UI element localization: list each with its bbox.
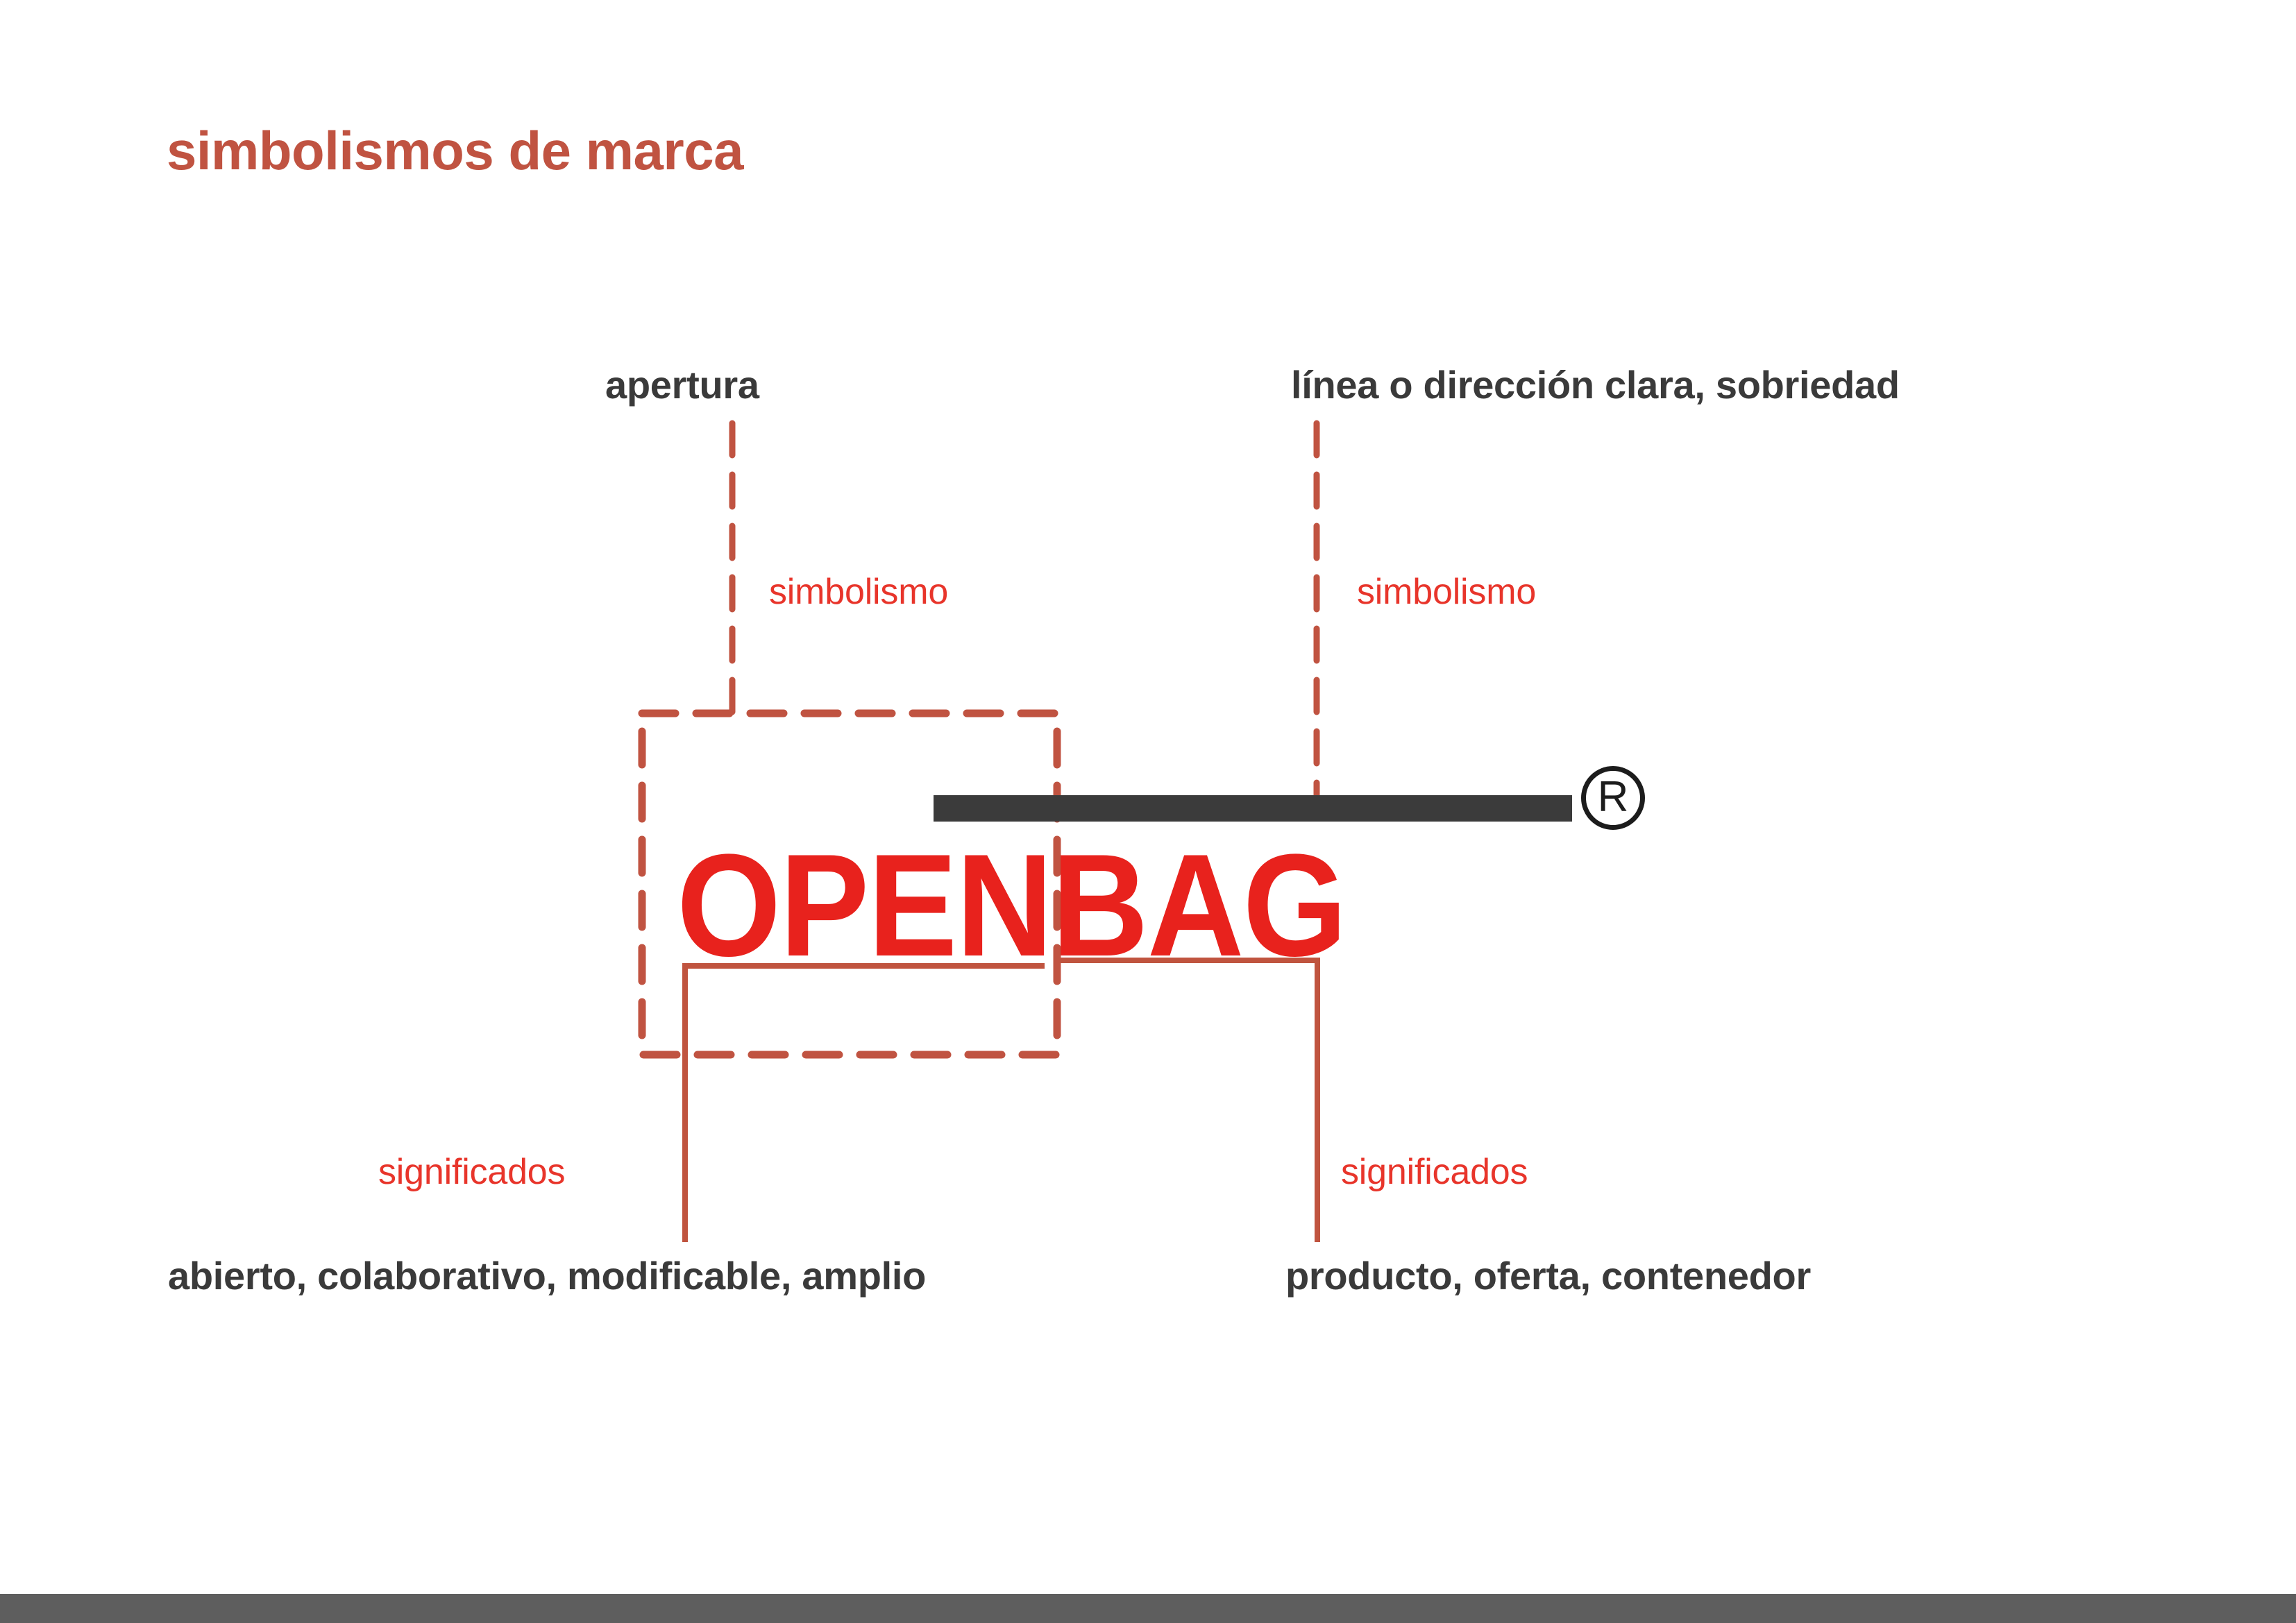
annotation-meanings-left: abierto, colaborativo, modificable, ampl… <box>168 1257 926 1295</box>
annotation-significados-right: significados <box>1341 1154 1528 1190</box>
annotation-apertura: apertura <box>605 366 759 405</box>
annotation-simbolismo-right: simbolismo <box>1357 574 1536 610</box>
logo-rule-bar <box>934 795 1572 822</box>
bracket-right-meanings <box>1061 960 1317 1242</box>
logo-wordmark: OPENBAG <box>677 833 1346 978</box>
slide-canvas: simbolismos de marca apertura línea o di… <box>0 0 2296 1623</box>
annotation-significados-left: significados <box>378 1154 565 1190</box>
annotation-meanings-right: producto, oferta, contenedor <box>1285 1257 1811 1295</box>
footer-bar <box>0 1594 2296 1623</box>
bracket-left-meanings <box>685 966 1045 1242</box>
annotation-simbolismo-left: simbolismo <box>769 574 948 610</box>
registered-trademark-icon: R <box>1581 766 1645 830</box>
annotation-linea-direccion: línea o dirección clara, sobriedad <box>1291 366 1900 405</box>
page-title: simbolismos de marca <box>167 124 743 178</box>
